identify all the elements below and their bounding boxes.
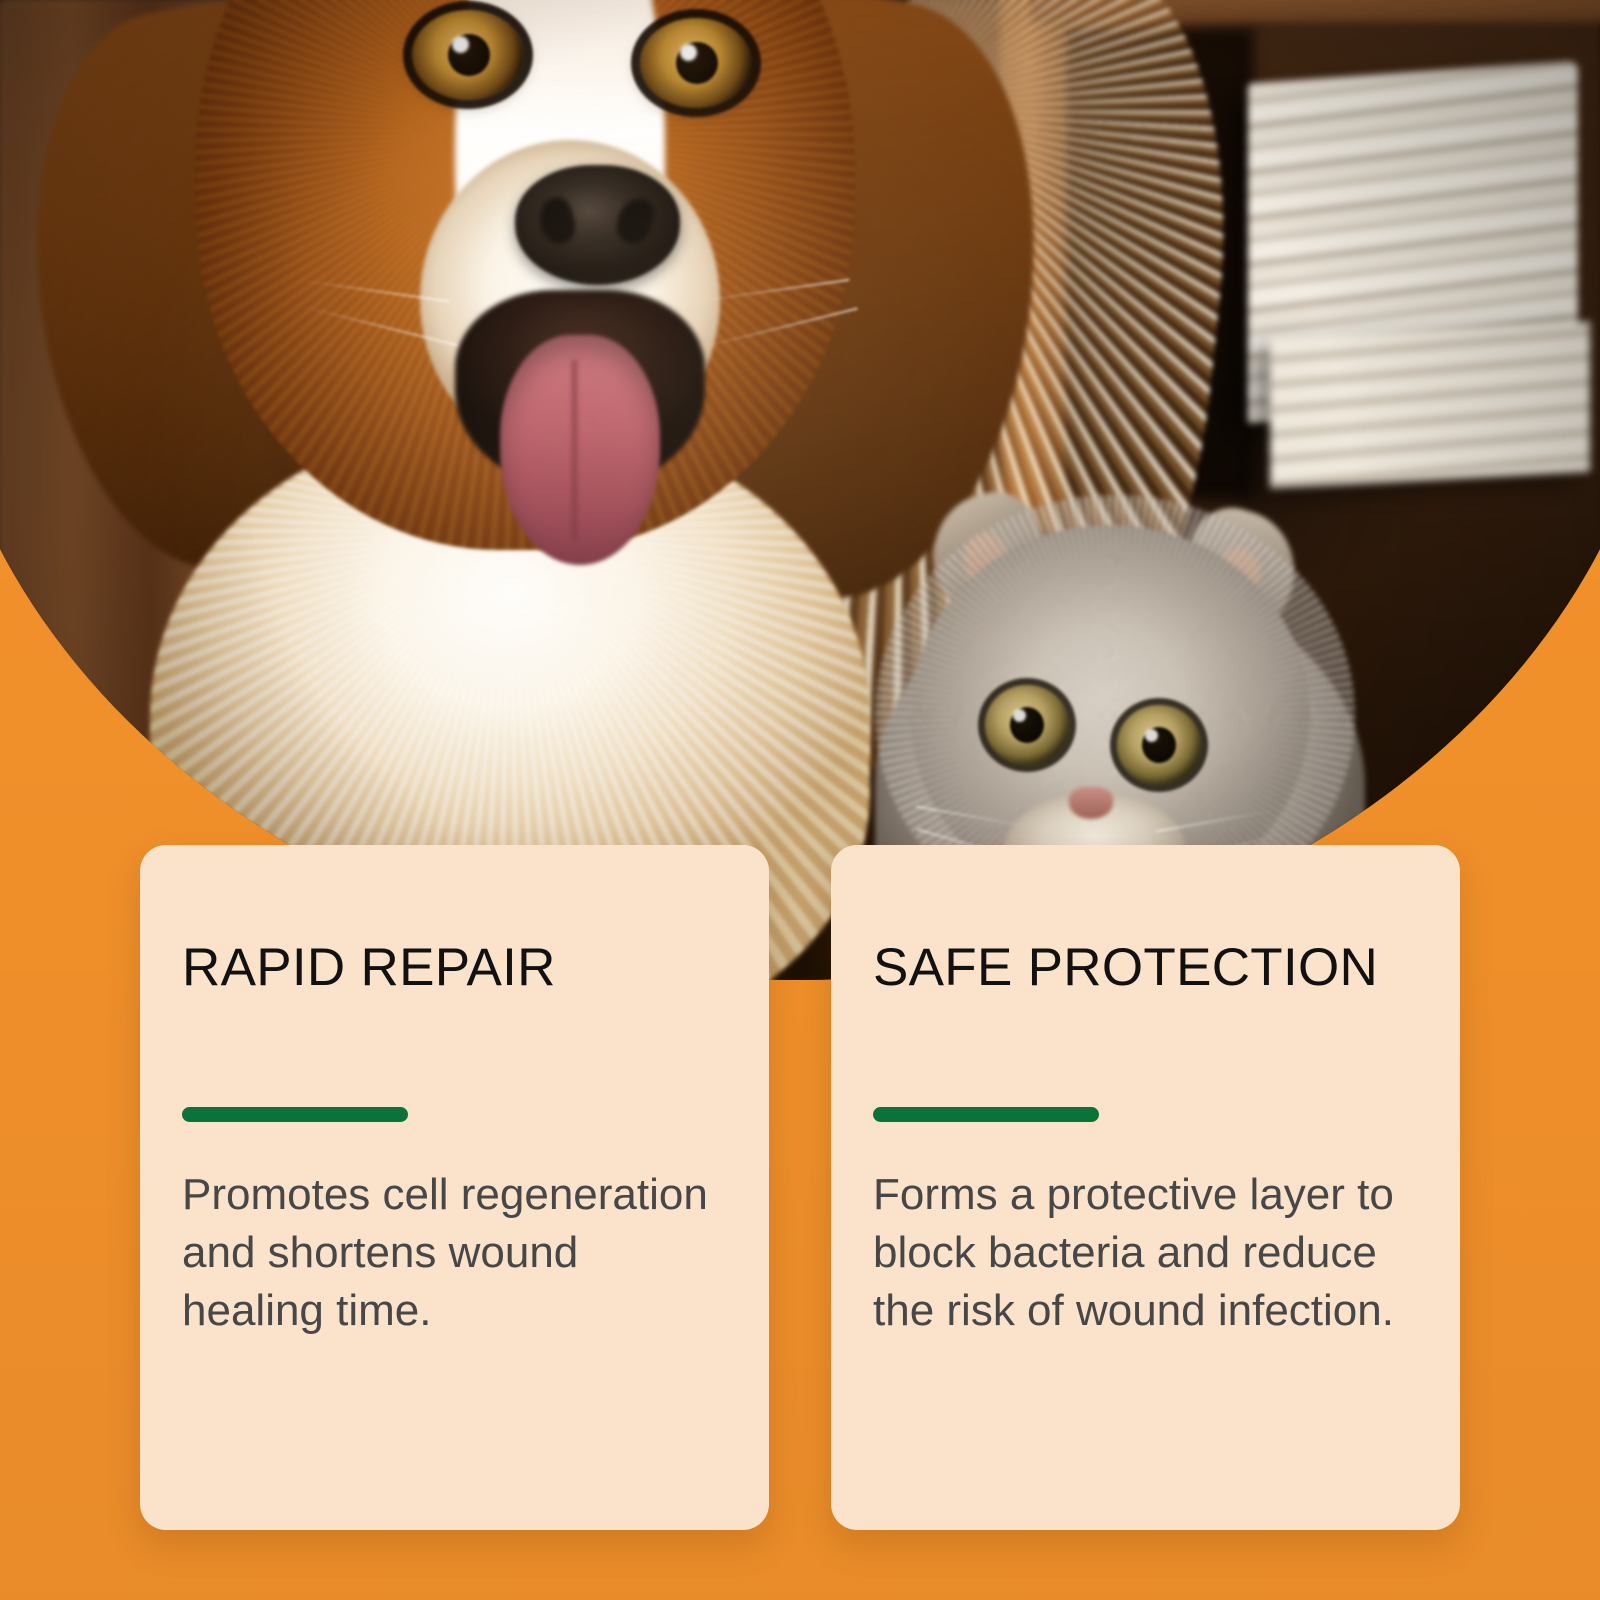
dog-eye-glint-right bbox=[680, 44, 697, 61]
feature-card-rapid-repair: RAPID REPAIR Promotes cell regeneration … bbox=[140, 845, 769, 1530]
feature-card-safe-protection: SAFE PROTECTION Forms a protective layer… bbox=[831, 845, 1460, 1530]
feature-card-description: Promotes cell regeneration and shortens … bbox=[182, 1166, 727, 1340]
dog-tongue bbox=[500, 335, 660, 565]
dog-eye-glint-left bbox=[452, 36, 469, 53]
dog-subject bbox=[0, 0, 1000, 970]
feature-card-title: RAPID REPAIR bbox=[182, 941, 727, 994]
poster-root: RAPID REPAIR Promotes cell regeneration … bbox=[0, 0, 1600, 1600]
feature-card-description: Forms a protective layer to block bacter… bbox=[873, 1166, 1418, 1340]
feature-card-divider-rule bbox=[873, 1107, 1099, 1122]
feature-card-divider-rule bbox=[182, 1107, 408, 1122]
dog-tongue-crease bbox=[572, 360, 577, 540]
feature-card-title: SAFE PROTECTION bbox=[873, 941, 1418, 994]
cat-eye-glint-right bbox=[1145, 729, 1158, 742]
hero-photo bbox=[0, 0, 1600, 980]
cat-eye-glint-left bbox=[1013, 709, 1026, 722]
feature-card-list: RAPID REPAIR Promotes cell regeneration … bbox=[140, 845, 1460, 1530]
hero-photo-ellipse-mask bbox=[0, 0, 1600, 980]
cat-nose bbox=[1069, 787, 1113, 819]
